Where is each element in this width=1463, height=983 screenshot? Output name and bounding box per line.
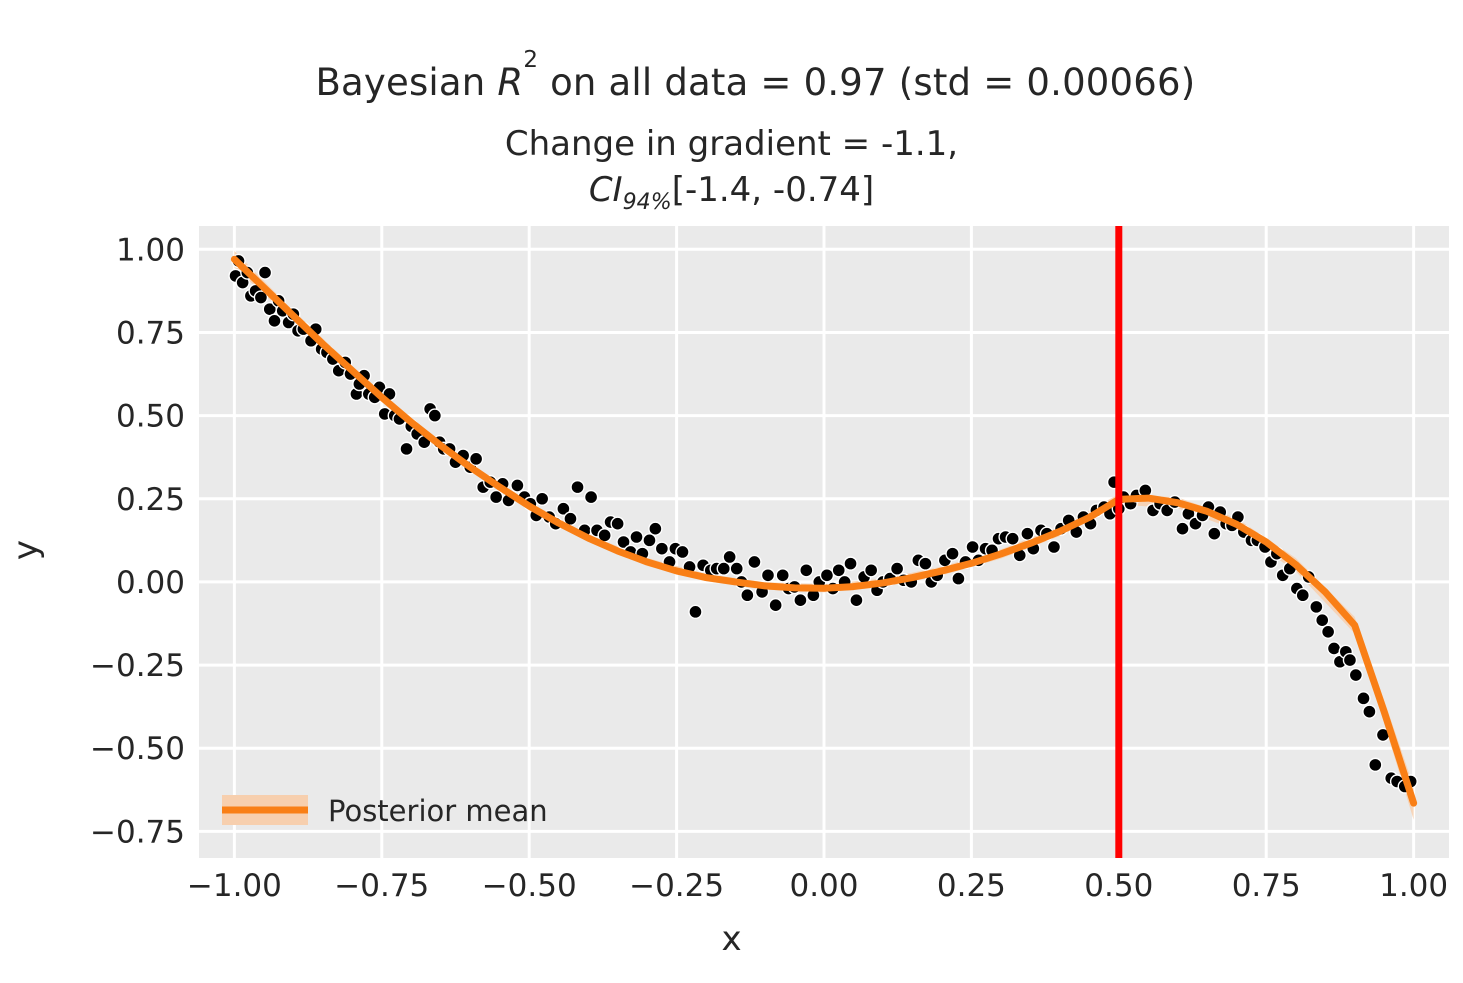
data-point — [946, 547, 959, 560]
data-point — [865, 564, 878, 577]
data-point — [643, 534, 656, 547]
data-point — [723, 550, 736, 563]
data-point — [800, 564, 813, 577]
data-point — [832, 564, 845, 577]
data-point — [1047, 540, 1060, 553]
data-point — [1357, 692, 1370, 705]
data-point — [761, 569, 774, 582]
y-tick-labels: 1.000.750.500.250.00−0.25−0.50−0.75 — [90, 232, 185, 850]
data-point — [1322, 625, 1335, 638]
y-tick-label: 0.50 — [116, 399, 185, 435]
data-point — [689, 605, 702, 618]
data-point — [891, 562, 904, 575]
data-point — [1369, 758, 1382, 771]
data-point — [730, 562, 743, 575]
plot-svg: −1.00−0.75−0.50−0.250.000.250.500.751.00… — [0, 0, 1463, 983]
data-point — [1328, 642, 1341, 655]
x-tick-label: 0.00 — [789, 868, 858, 904]
x-tick-label: 0.50 — [1084, 868, 1153, 904]
data-point — [776, 569, 789, 582]
legend: Posterior mean — [222, 794, 548, 828]
data-point — [1021, 527, 1034, 540]
data-point — [748, 555, 761, 568]
data-point — [259, 266, 272, 279]
data-point — [769, 599, 782, 612]
y-tick-label: 1.00 — [116, 232, 185, 268]
data-point — [1316, 614, 1329, 627]
data-point — [1208, 527, 1221, 540]
data-point — [1006, 532, 1019, 545]
data-point — [1363, 705, 1376, 718]
data-point — [630, 531, 643, 544]
data-point — [649, 522, 662, 535]
x-tick-label: −0.75 — [334, 868, 429, 904]
data-point — [1349, 669, 1362, 682]
data-point — [428, 409, 441, 422]
x-tick-label: −1.00 — [187, 868, 282, 904]
data-point — [511, 479, 524, 492]
x-tick-label: 0.25 — [937, 868, 1006, 904]
data-point — [585, 491, 598, 504]
y-tick-label: 0.25 — [116, 482, 185, 518]
data-point — [400, 442, 413, 455]
data-point — [470, 452, 483, 465]
figure-canvas: Bayesian R2 on all data = 0.97 (std = 0.… — [0, 0, 1463, 983]
data-point — [655, 542, 668, 555]
data-point — [490, 491, 503, 504]
data-point — [1296, 589, 1309, 602]
x-tick-label: 0.75 — [1232, 868, 1301, 904]
data-point — [820, 569, 833, 582]
y-tick-label: −0.25 — [90, 648, 185, 684]
x-tick-labels: −1.00−0.75−0.50−0.250.000.250.500.751.00 — [187, 868, 1448, 904]
data-point — [611, 517, 624, 530]
x-tick-label: 1.00 — [1379, 868, 1448, 904]
data-point — [952, 572, 965, 585]
data-point — [794, 594, 807, 607]
data-point — [1310, 600, 1323, 613]
data-point — [1343, 654, 1356, 667]
data-point — [850, 594, 863, 607]
data-point — [571, 481, 584, 494]
legend-label: Posterior mean — [328, 794, 548, 828]
x-tick-label: −0.25 — [629, 868, 724, 904]
y-tick-label: −0.75 — [90, 814, 185, 850]
data-point — [717, 562, 730, 575]
data-point — [1176, 522, 1189, 535]
x-tick-label: −0.50 — [482, 868, 577, 904]
y-tick-label: 0.00 — [116, 565, 185, 601]
y-tick-label: −0.50 — [90, 731, 185, 767]
data-point — [741, 589, 754, 602]
data-point — [676, 545, 689, 558]
y-tick-label: 0.75 — [116, 315, 185, 351]
data-point — [844, 557, 857, 570]
data-point — [919, 557, 932, 570]
data-point — [536, 492, 549, 505]
data-point — [966, 540, 979, 553]
